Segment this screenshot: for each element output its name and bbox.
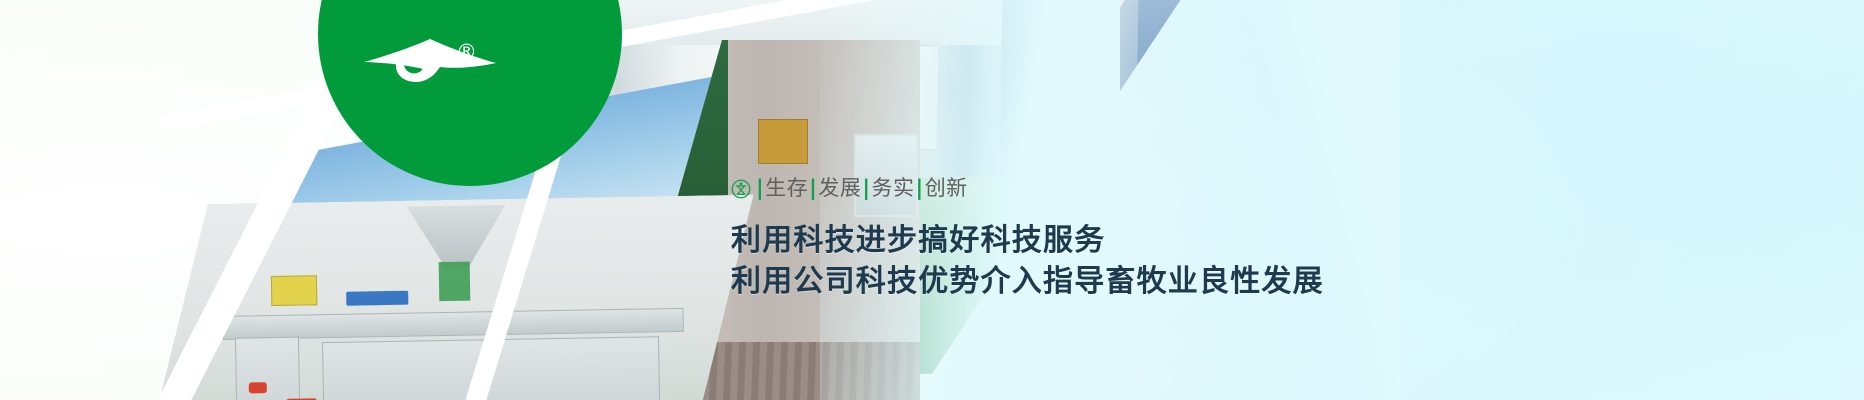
machine-control-cabinet bbox=[235, 337, 301, 400]
green-circle-figure-icon bbox=[731, 179, 751, 199]
indicator-light bbox=[248, 382, 267, 394]
warning-label bbox=[271, 275, 317, 306]
registered-trademark-symbol: ® bbox=[456, 42, 477, 63]
banner-copy: | 生存 | 发展 | 务实 | 创新 利用科技进步搞好科技服务 利用公司科技优… bbox=[731, 178, 1551, 302]
headline-block: 利用科技进步搞好科技服务 利用公司科技优势介入指导畜牧业良性发展 bbox=[731, 221, 1551, 302]
slogan-separator: | bbox=[756, 178, 764, 199]
slogan-word-2: 发展 bbox=[818, 178, 861, 199]
slogan-word-4: 创新 bbox=[925, 178, 968, 199]
slogan-separator: | bbox=[862, 178, 870, 199]
slogan-separator: | bbox=[916, 178, 924, 199]
cleanroom-door bbox=[1135, 0, 1187, 205]
headline-line-2: 利用公司科技优势介入指导畜牧业良性发展 bbox=[731, 262, 1551, 303]
slogan-word-1: 生存 bbox=[765, 178, 808, 199]
slogan-separator: | bbox=[809, 178, 817, 199]
cleanroom-door bbox=[1071, 0, 1115, 195]
slogan-word-3: 务实 bbox=[872, 178, 915, 199]
machine-motor bbox=[346, 290, 408, 305]
hero-banner: ® | 生存 | 发展 | 务实 | 创新 利用科技进步搞好科技服务 利用公司科… bbox=[0, 0, 1864, 400]
cleanroom-door bbox=[999, 0, 1051, 186]
machine-funnel bbox=[438, 261, 470, 301]
wall-plaque bbox=[758, 119, 808, 164]
brand-slogan: | 生存 | 发展 | 务实 | 创新 bbox=[731, 178, 1551, 199]
headline-line-1: 利用科技进步搞好科技服务 bbox=[731, 221, 1551, 262]
